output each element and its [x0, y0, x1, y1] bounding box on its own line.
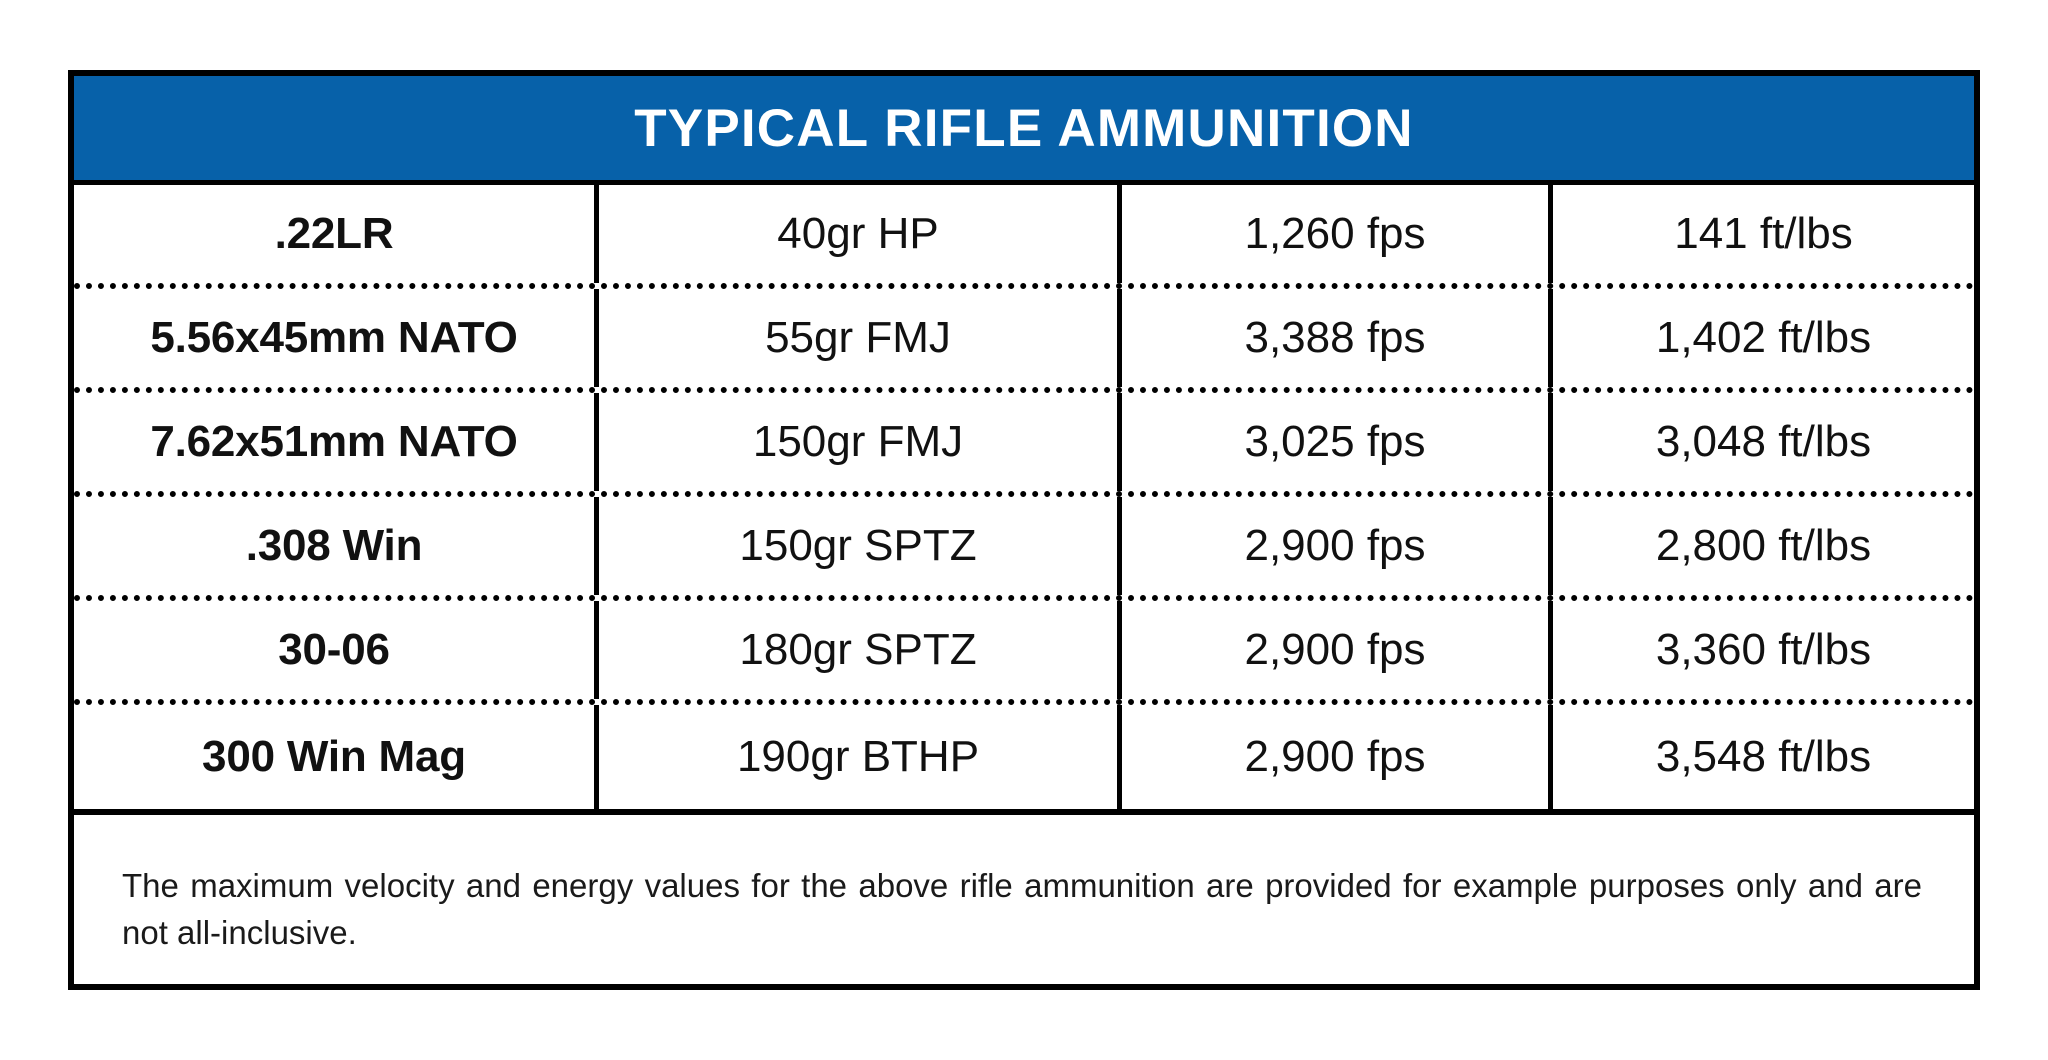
table-title: TYPICAL RIFLE AMMUNITION [634, 102, 1414, 155]
cell-velocity: 2,900 fps [1117, 497, 1548, 595]
table-row: 5.56x45mm NATO 55gr FMJ 3,388 fps 1,402 … [74, 289, 1974, 393]
footnote-panel: The maximum velocity and energy values f… [74, 809, 1974, 984]
ammunition-table: TYPICAL RIFLE AMMUNITION .22LR 40gr HP 1… [68, 70, 1980, 990]
cell-velocity: 2,900 fps [1117, 601, 1548, 699]
cell-bullet: 180gr SPTZ [594, 601, 1117, 699]
table-row: .308 Win 150gr SPTZ 2,900 fps 2,800 ft/l… [74, 497, 1974, 601]
cell-bullet: 40gr HP [594, 185, 1117, 283]
cell-energy: 3,548 ft/lbs [1548, 705, 1974, 809]
cell-energy: 2,800 ft/lbs [1548, 497, 1974, 595]
cell-velocity: 1,260 fps [1117, 185, 1548, 283]
cell-energy: 3,048 ft/lbs [1548, 393, 1974, 491]
table-body: .22LR 40gr HP 1,260 fps 141 ft/lbs 5.56x… [74, 180, 1974, 809]
cell-bullet: 150gr SPTZ [594, 497, 1117, 595]
footnote-text: The maximum velocity and energy values f… [122, 863, 1922, 957]
cell-velocity: 3,388 fps [1117, 289, 1548, 387]
cell-cartridge: 30-06 [74, 601, 594, 699]
cell-bullet: 55gr FMJ [594, 289, 1117, 387]
cell-cartridge: .22LR [74, 185, 594, 283]
cell-cartridge: .308 Win [74, 497, 594, 595]
cell-velocity: 2,900 fps [1117, 705, 1548, 809]
table-row: .22LR 40gr HP 1,260 fps 141 ft/lbs [74, 185, 1974, 289]
cell-energy: 3,360 ft/lbs [1548, 601, 1974, 699]
cell-energy: 1,402 ft/lbs [1548, 289, 1974, 387]
cell-energy: 141 ft/lbs [1548, 185, 1974, 283]
table-row: 30-06 180gr SPTZ 2,900 fps 3,360 ft/lbs [74, 601, 1974, 705]
cell-cartridge: 7.62x51mm NATO [74, 393, 594, 491]
cell-cartridge: 300 Win Mag [74, 705, 594, 809]
page-root: TYPICAL RIFLE AMMUNITION .22LR 40gr HP 1… [0, 0, 2048, 1060]
table-row: 7.62x51mm NATO 150gr FMJ 3,025 fps 3,048… [74, 393, 1974, 497]
cell-cartridge: 5.56x45mm NATO [74, 289, 594, 387]
table-row: 300 Win Mag 190gr BTHP 2,900 fps 3,548 f… [74, 705, 1974, 809]
table-header-bar: TYPICAL RIFLE AMMUNITION [74, 76, 1974, 180]
cell-bullet: 190gr BTHP [594, 705, 1117, 809]
cell-bullet: 150gr FMJ [594, 393, 1117, 491]
cell-velocity: 3,025 fps [1117, 393, 1548, 491]
